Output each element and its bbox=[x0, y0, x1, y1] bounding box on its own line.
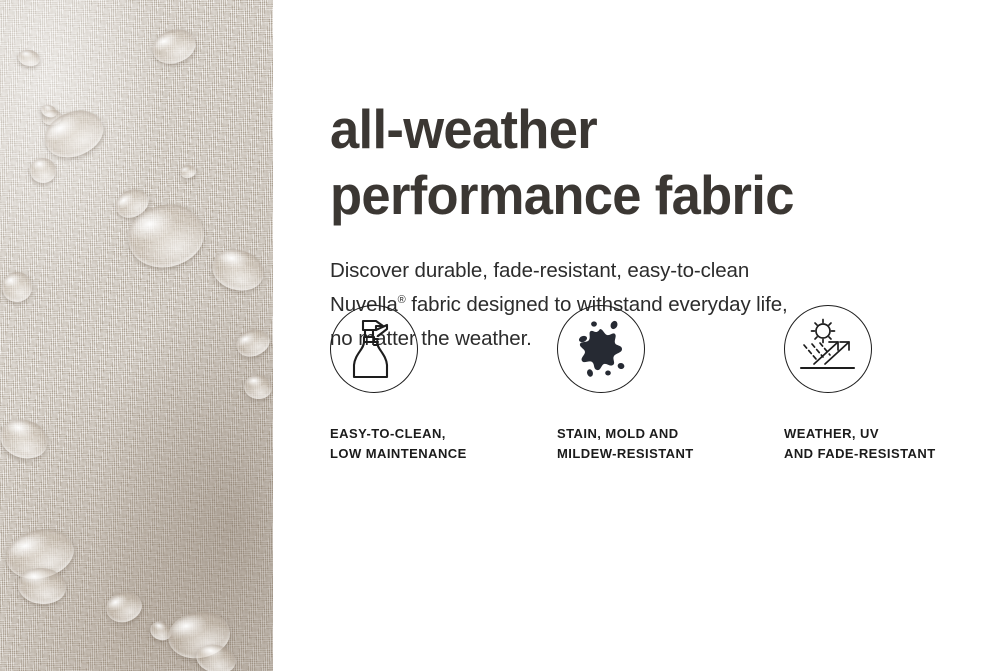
headline-line-1: all-weather bbox=[330, 98, 597, 160]
promotional-banner: all-weather performance fabric Discover … bbox=[0, 0, 1005, 671]
headline-line-2: performance fabric bbox=[330, 164, 794, 226]
spray-bottle-icon bbox=[330, 305, 418, 393]
feature-item-uv-resistant: WEATHER, UV AND FADE-RESISTANT bbox=[784, 305, 1004, 464]
feature-caption-line-1: STAIN, MOLD AND bbox=[557, 426, 679, 441]
feature-caption: EASY-TO-CLEAN, LOW MAINTENANCE bbox=[330, 424, 467, 464]
feature-caption-line-1: EASY-TO-CLEAN, bbox=[330, 426, 446, 441]
feature-caption-line-2: MILDEW-RESISTANT bbox=[557, 446, 694, 461]
feature-caption: STAIN, MOLD AND MILDEW-RESISTANT bbox=[557, 424, 694, 464]
feature-caption-line-2: AND FADE-RESISTANT bbox=[784, 446, 936, 461]
sun-uv-reflect-icon bbox=[784, 305, 872, 393]
feature-caption-line-1: WEATHER, UV bbox=[784, 426, 879, 441]
feature-list: EASY-TO-CLEAN, LOW MAINTENANCE bbox=[330, 305, 1004, 464]
subcopy-line-1: Discover durable, fade-resistant, easy-t… bbox=[330, 259, 749, 282]
stain-splat-icon bbox=[557, 305, 645, 393]
content-panel: all-weather performance fabric Discover … bbox=[273, 0, 1005, 671]
feature-caption-line-2: LOW MAINTENANCE bbox=[330, 446, 467, 461]
feature-item-stain-resistant: STAIN, MOLD AND MILDEW-RESISTANT bbox=[557, 305, 784, 464]
feature-caption: WEATHER, UV AND FADE-RESISTANT bbox=[784, 424, 936, 464]
feature-item-easy-to-clean: EASY-TO-CLEAN, LOW MAINTENANCE bbox=[330, 305, 557, 464]
fabric-photo bbox=[0, 0, 273, 671]
page-title: all-weather performance fabric bbox=[330, 96, 975, 228]
